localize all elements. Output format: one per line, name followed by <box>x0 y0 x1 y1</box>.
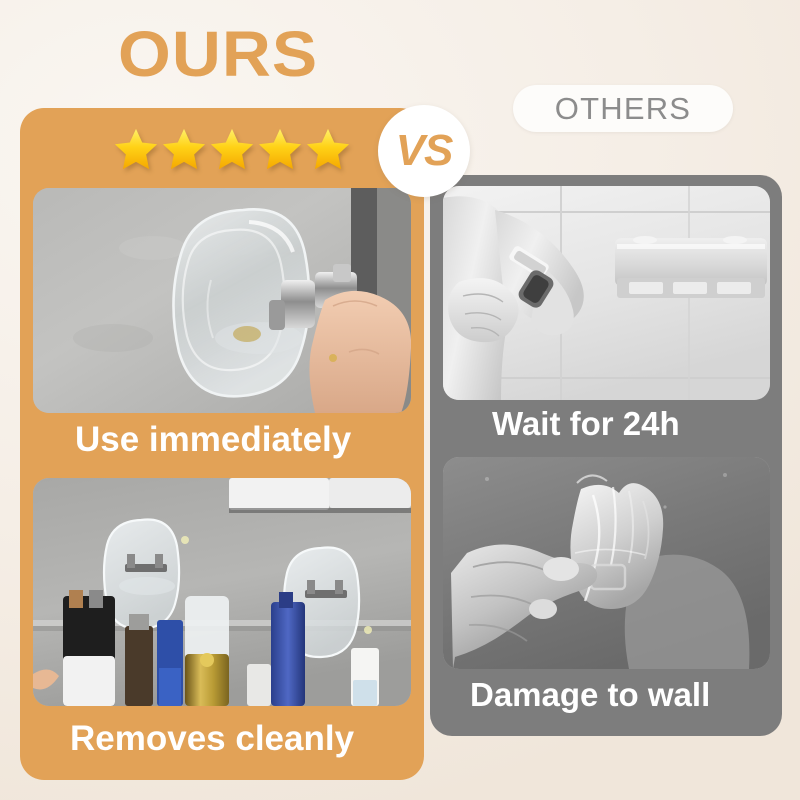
comparison-infographic: OURS OTHERS <box>0 0 800 800</box>
star-icon <box>209 126 255 172</box>
others-caption-2: Damage to wall <box>470 676 710 714</box>
star-icon <box>161 126 207 172</box>
star-icon <box>305 126 351 172</box>
others-title-pill: OTHERS <box>513 85 733 132</box>
vs-label: VS <box>396 126 453 176</box>
photo-hooks-on-wall <box>33 478 411 706</box>
ours-title: OURS <box>118 22 318 86</box>
ours-caption-2: Removes cleanly <box>70 719 354 759</box>
photo-suction-hook-install <box>33 188 411 413</box>
ours-caption-1: Use immediately <box>75 420 351 460</box>
vs-badge: VS <box>378 105 470 197</box>
photo-wall-damage <box>443 457 770 669</box>
photo-waiting-watch <box>443 186 770 400</box>
star-icon <box>257 126 303 172</box>
others-title-label: OTHERS <box>555 91 691 127</box>
star-icon <box>113 126 159 172</box>
star-rating <box>113 126 351 172</box>
others-caption-1: Wait for 24h <box>492 405 680 443</box>
